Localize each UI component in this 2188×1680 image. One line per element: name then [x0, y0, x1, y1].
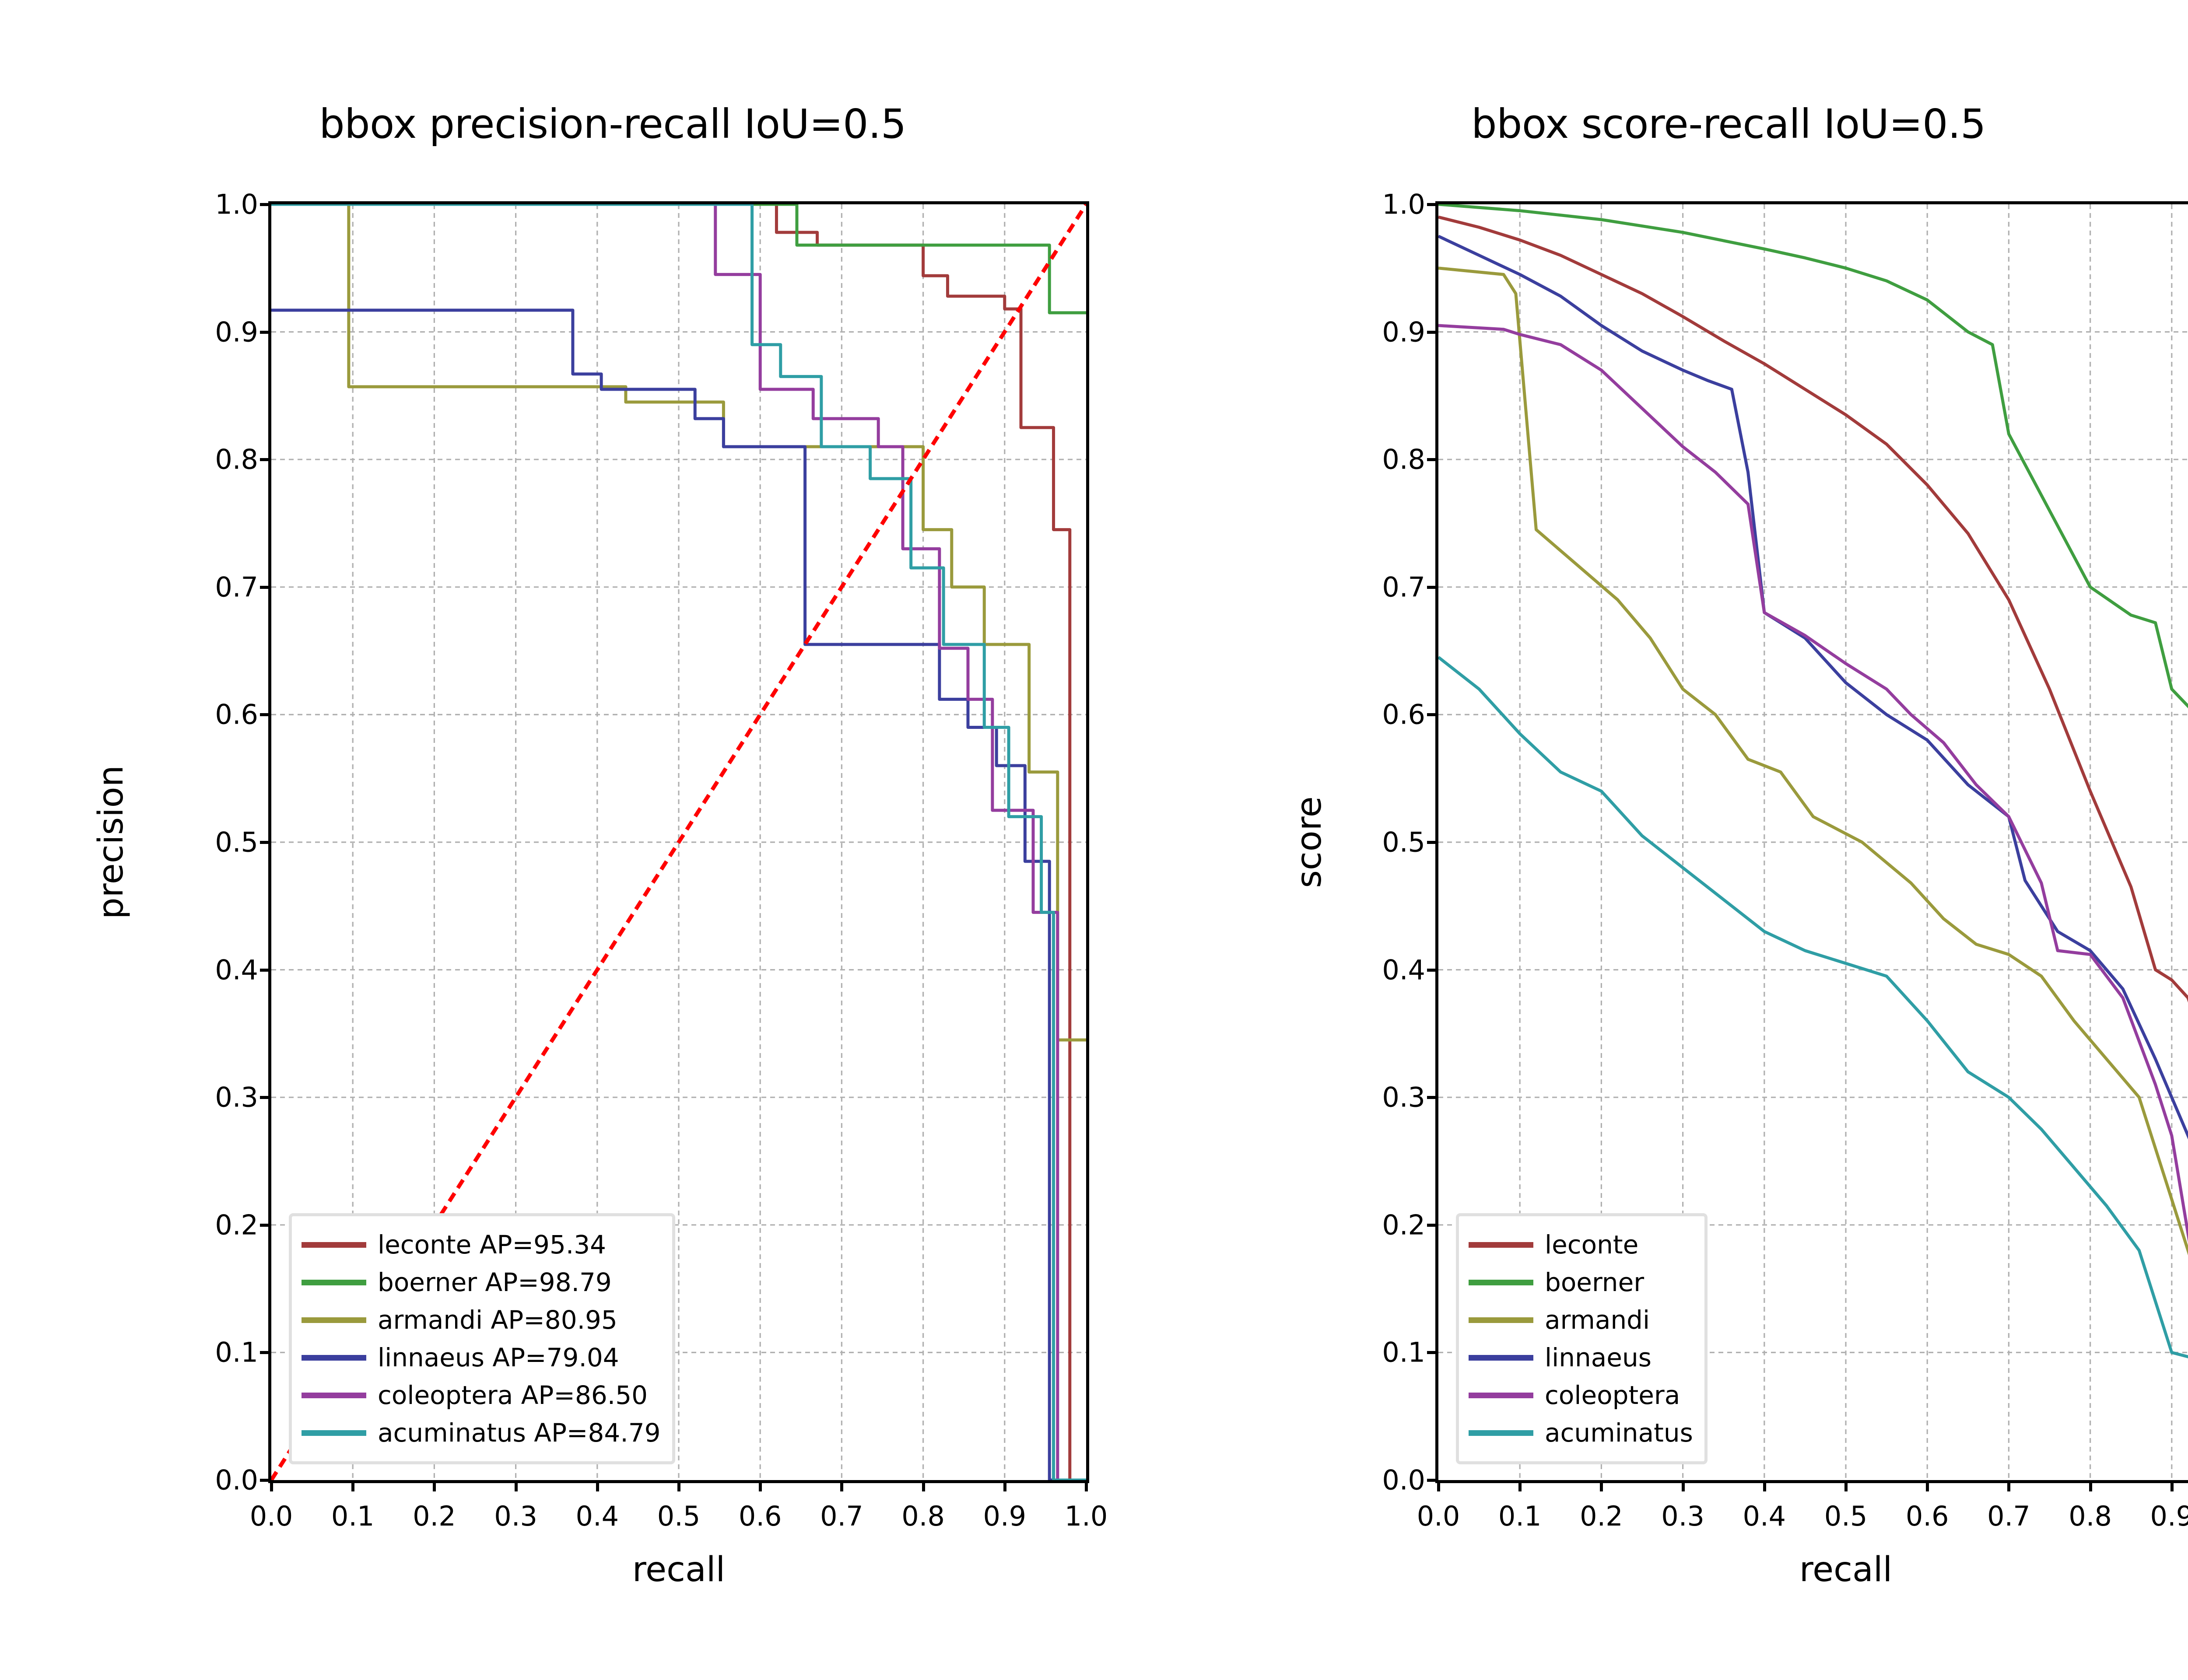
legend-swatch-armandi [302, 1317, 366, 1323]
legend-swatch-boerner [302, 1280, 366, 1285]
legend-swatch-linnaeus [302, 1355, 366, 1361]
legend-swatch-acuminatus [302, 1430, 366, 1436]
y-tick-label: 0.4 [1382, 954, 1425, 986]
panel-title-precision-recall: bbox precision-recall IoU=0.5 [0, 101, 1173, 147]
x-tickmark [1763, 1480, 1766, 1491]
legend-item-acuminatus[interactable]: acuminatus AP=84.79 [302, 1414, 661, 1452]
legend-label-armandi: armandi AP=80.95 [378, 1307, 617, 1333]
y-tickmark [1427, 586, 1438, 589]
axes-precision-recall: 0.00.10.20.30.40.50.60.70.80.91.00.00.10… [268, 201, 1089, 1483]
y-tickmark [260, 713, 271, 716]
y-tick-label: 0.1 [215, 1337, 258, 1368]
legend-item-coleoptera[interactable]: coleoptera AP=86.50 [302, 1376, 661, 1414]
x-tickmark [433, 1480, 436, 1491]
series-line-linnaeus [1438, 236, 2188, 1353]
x-tick-label: 0.2 [1580, 1500, 1623, 1532]
legend-item-leconte[interactable]: leconte [1469, 1226, 1693, 1263]
x-tick-label: 0.8 [2069, 1500, 2112, 1532]
y-tickmark [260, 203, 271, 206]
legend-swatch-boerner [1469, 1280, 1533, 1285]
legend-label-boerner: boerner [1545, 1270, 1644, 1295]
y-tickmark [260, 1224, 271, 1227]
y-tickmark [1427, 1096, 1438, 1099]
y-tick-label: 0.9 [1382, 316, 1425, 348]
legend-item-acuminatus[interactable]: acuminatus [1469, 1414, 1693, 1452]
y-tickmark [260, 458, 271, 461]
x-tick-label: 0.4 [575, 1500, 619, 1532]
legend-label-coleoptera: coleoptera [1545, 1382, 1680, 1408]
x-tickmark [515, 1480, 518, 1491]
y-tickmark [260, 969, 271, 972]
x-tickmark [1600, 1480, 1603, 1491]
x-tickmark [1085, 1480, 1088, 1491]
legend-label-acuminatus: acuminatus [1545, 1420, 1693, 1445]
y-tick-label: 0.7 [215, 571, 258, 603]
x-tickmark [1437, 1480, 1440, 1491]
legend-label-linnaeus: linnaeus [1545, 1345, 1652, 1370]
y-tick-label: 0.8 [215, 444, 258, 476]
legend-swatch-coleoptera [1469, 1393, 1533, 1398]
xlabel-score-recall: recall [1799, 1550, 1892, 1589]
y-tick-label: 1.0 [215, 189, 258, 220]
y-tickmark [260, 1351, 271, 1354]
x-tickmark [1682, 1480, 1685, 1491]
x-tickmark [1926, 1480, 1929, 1491]
panel-title-score-recall: bbox score-recall IoU=0.5 [1120, 101, 2188, 147]
x-tickmark [759, 1480, 762, 1491]
legend-item-linnaeus[interactable]: linnaeus [1469, 1339, 1693, 1376]
legend-item-linnaeus[interactable]: linnaeus AP=79.04 [302, 1339, 661, 1376]
x-tick-label: 0.8 [901, 1500, 945, 1532]
y-tickmark [1427, 458, 1438, 461]
legend-item-leconte[interactable]: leconte AP=95.34 [302, 1226, 661, 1263]
x-tick-label: 0.1 [1498, 1500, 1542, 1532]
xlabel-precision-recall: recall [632, 1550, 725, 1589]
legend-label-leconte: leconte [1545, 1232, 1638, 1257]
y-tick-label: 1.0 [1382, 189, 1425, 220]
x-tickmark [2007, 1480, 2010, 1491]
y-tick-label: 0.5 [1382, 826, 1425, 858]
x-tick-label: 0.1 [331, 1500, 375, 1532]
y-tickmark [260, 331, 271, 334]
x-tick-label: 0.6 [739, 1500, 782, 1532]
y-tickmark [1427, 841, 1438, 844]
x-tickmark [351, 1480, 354, 1491]
y-tickmark [1427, 969, 1438, 972]
legend-item-coleoptera[interactable]: coleoptera [1469, 1376, 1693, 1414]
x-tickmark [840, 1480, 843, 1491]
x-tick-label: 0.5 [657, 1500, 701, 1532]
figure-root: bbox precision-recall IoU=0.5 0.00.10.20… [0, 0, 2188, 1680]
x-tickmark [677, 1480, 680, 1491]
y-tick-label: 0.3 [215, 1081, 258, 1113]
legend-label-leconte: leconte AP=95.34 [378, 1232, 606, 1257]
y-tick-label: 0.8 [1382, 444, 1425, 476]
legend-item-boerner[interactable]: boerner [1469, 1263, 1693, 1301]
y-tickmark [1427, 713, 1438, 716]
series-line-coleoptera [1438, 325, 2188, 1340]
legend-item-armandi[interactable]: armandi AP=80.95 [302, 1301, 661, 1339]
x-tickmark [1844, 1480, 1848, 1491]
x-tick-label: 0.3 [494, 1500, 537, 1532]
y-tick-label: 0.9 [215, 316, 258, 348]
x-tick-label: 0.0 [250, 1500, 293, 1532]
x-tick-label: 0.2 [413, 1500, 456, 1532]
y-tick-label: 0.6 [1382, 699, 1425, 731]
ylabel-precision-recall: precision [91, 765, 131, 919]
legend-precision-recall[interactable]: leconte AP=95.34boerner AP=98.79armandi … [289, 1213, 675, 1464]
legend-swatch-leconte [1469, 1242, 1533, 1248]
series-line-boerner [1438, 204, 2188, 1040]
y-tickmark [1427, 203, 1438, 206]
y-tick-label: 0.7 [1382, 571, 1425, 603]
ylabel-score-recall: score [1290, 796, 1329, 888]
legend-swatch-coleoptera [302, 1393, 366, 1398]
panel-precision-recall: bbox precision-recall IoU=0.5 0.00.10.20… [0, 0, 1120, 1680]
legend-score-recall[interactable]: leconteboernerarmandilinnaeuscoleopteraa… [1456, 1213, 1708, 1464]
x-tick-label: 0.3 [1661, 1500, 1704, 1532]
x-tick-label: 0.9 [2150, 1500, 2188, 1532]
legend-label-acuminatus: acuminatus AP=84.79 [378, 1420, 661, 1445]
x-tickmark [596, 1480, 599, 1491]
y-tick-label: 0.6 [215, 699, 258, 731]
y-tickmark [260, 586, 271, 589]
legend-item-boerner[interactable]: boerner AP=98.79 [302, 1263, 661, 1301]
x-tick-label: 0.7 [1987, 1500, 2030, 1532]
y-tick-label: 0.1 [1382, 1337, 1425, 1368]
y-tickmark [260, 1096, 271, 1099]
x-tick-label: 0.5 [1824, 1500, 1868, 1532]
y-tick-label: 0.2 [1382, 1209, 1425, 1241]
x-tick-label: 0.0 [1417, 1500, 1460, 1532]
y-tick-label: 0.5 [215, 826, 258, 858]
legend-label-boerner: boerner AP=98.79 [378, 1270, 612, 1295]
legend-label-linnaeus: linnaeus AP=79.04 [378, 1345, 619, 1370]
legend-item-armandi[interactable]: armandi [1469, 1301, 1693, 1339]
x-tick-label: 0.4 [1743, 1500, 1786, 1532]
axes-score-recall: 0.00.10.20.30.40.50.60.70.80.91.00.00.10… [1435, 201, 2188, 1483]
legend-label-armandi: armandi [1545, 1307, 1650, 1333]
legend-swatch-armandi [1469, 1317, 1533, 1323]
y-tick-label: 0.0 [1382, 1464, 1425, 1496]
x-tick-label: 1.0 [1065, 1500, 1108, 1532]
y-tick-label: 0.4 [215, 954, 258, 986]
x-tickmark [2170, 1480, 2174, 1491]
x-tickmark [922, 1480, 925, 1491]
legend-swatch-acuminatus [1469, 1430, 1533, 1436]
x-tick-label: 0.7 [820, 1500, 863, 1532]
y-tickmark [1427, 331, 1438, 334]
x-tickmark [1518, 1480, 1522, 1491]
legend-swatch-linnaeus [1469, 1355, 1533, 1361]
y-tick-label: 0.3 [1382, 1081, 1425, 1113]
panel-score-recall: bbox score-recall IoU=0.5 0.00.10.20.30.… [1120, 0, 2188, 1680]
x-tickmark [270, 1480, 273, 1491]
x-tick-label: 0.9 [983, 1500, 1026, 1532]
y-tickmark [1427, 1224, 1438, 1227]
legend-label-coleoptera: coleoptera AP=86.50 [378, 1382, 648, 1408]
y-tickmark [260, 841, 271, 844]
x-tick-label: 0.6 [1906, 1500, 1949, 1532]
x-tickmark [1003, 1480, 1006, 1491]
x-tickmark [2089, 1480, 2092, 1491]
legend-swatch-leconte [302, 1242, 366, 1248]
y-tick-label: 0.0 [215, 1464, 258, 1496]
y-tickmark [1427, 1351, 1438, 1354]
y-tick-label: 0.2 [215, 1209, 258, 1241]
